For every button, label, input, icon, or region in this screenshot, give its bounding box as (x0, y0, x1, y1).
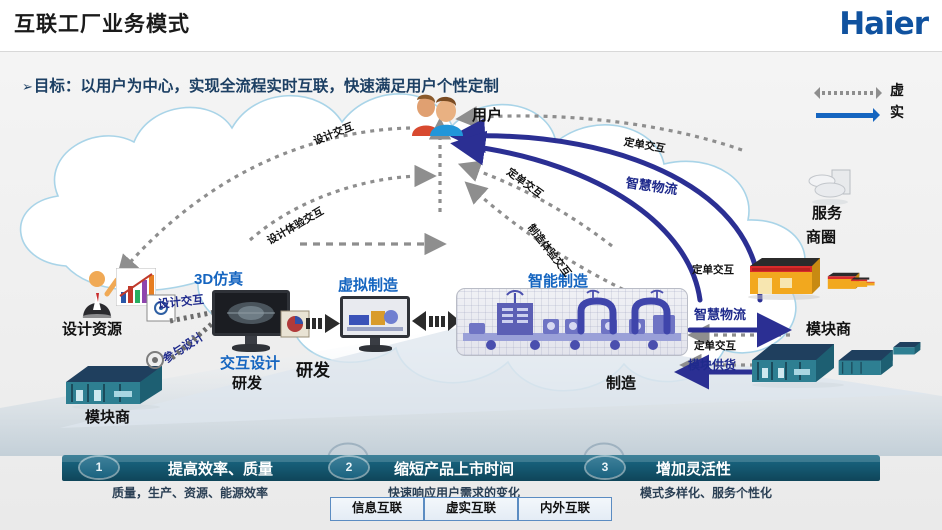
node-label-module-supplier-right: 模块商 (806, 318, 851, 339)
arc-label-order-interaction-module: 定单交互 (694, 338, 736, 353)
arc-label-order-interaction-logistics: 定单交互 (692, 262, 734, 277)
smart-factory-illustration (456, 288, 688, 356)
monitor-3d-sim-icon (212, 290, 290, 352)
slide-canvas: 互联工厂业务模式 Haier ➢目标：以用户为中心，实现全流程实时互联，快速满足… (0, 0, 942, 530)
node-label-user: 用户 (472, 104, 502, 125)
node-label-virtual-manufacturing: 虚拟制造 (338, 274, 398, 295)
benefit-title-2: 缩短产品上市时间 (394, 458, 514, 479)
arc-label-module-supply: 模块供货 (688, 356, 736, 373)
benefit-number-2: 2 (330, 457, 368, 478)
service-dishes-icon (806, 168, 852, 206)
warehouse-right-icon (748, 338, 926, 390)
chevron-arrow-right-1 (306, 312, 342, 336)
benefit-title-1: 提高效率、质量 (168, 458, 273, 479)
page-title: 互联工厂业务模式 (14, 8, 190, 38)
benefit-sub-3: 模式多样化、服务个性化 (640, 484, 772, 501)
node-label-service: 服务 (812, 202, 842, 223)
header-divider (0, 51, 942, 52)
node-label-design-resource: 设计资源 (62, 318, 122, 339)
benefit-number-1: 1 (80, 457, 118, 478)
chevron-arrow-bidirectional (412, 308, 460, 334)
arc-label-smart-logistics-right: 智慧物流 (694, 304, 746, 323)
node-label-3d-simulation: 3D仿真 (194, 268, 243, 289)
user-avatar-icon (406, 94, 468, 136)
retail-shop-icon (746, 252, 876, 300)
node-label-interactive-design: 交互设计 (220, 352, 280, 373)
solid-arrow-icon (816, 113, 876, 118)
businessman-icon (76, 268, 118, 318)
node-label-rnd-center: 研发 (296, 356, 330, 381)
header-bar: 互联工厂业务模式 Haier (0, 0, 942, 52)
benefit-title-3: 增加灵活性 (656, 458, 731, 479)
legend-label-real: 实 (890, 102, 904, 122)
legend-row-real: 实 (812, 104, 932, 126)
monitor-virtual-mfg-icon (340, 296, 410, 352)
dashed-double-arrow-icon (816, 91, 880, 95)
bullet-arrow-icon: ➢ (22, 79, 33, 94)
haier-logo: Haier (839, 6, 928, 42)
pill-internal-external-connect[interactable]: 内外互联 (518, 497, 612, 521)
node-label-business-circle: 商圈 (806, 226, 836, 247)
pill-virtual-real-connect[interactable]: 虚实互联 (424, 497, 518, 521)
legend-label-virtual: 虚 (890, 80, 904, 100)
node-label-manufacturing: 制造 (606, 372, 636, 393)
node-label-rnd-left: 研发 (232, 372, 262, 393)
benefit-sub-1: 质量，生产、资源、能源效率 (112, 484, 268, 501)
legend: 虚 实 (812, 82, 932, 130)
node-label-module-supplier-left: 模块商 (85, 406, 130, 427)
goal-text: 目标：以用户为中心，实现全流程实时互联，快速满足用户个性定制 (34, 78, 499, 95)
benefit-number-3: 3 (586, 457, 624, 478)
legend-row-virtual: 虚 (812, 82, 932, 104)
pill-info-connect[interactable]: 信息互联 (330, 497, 424, 521)
goal-statement: ➢目标：以用户为中心，实现全流程实时互联，快速满足用户个性定制 (22, 74, 499, 96)
